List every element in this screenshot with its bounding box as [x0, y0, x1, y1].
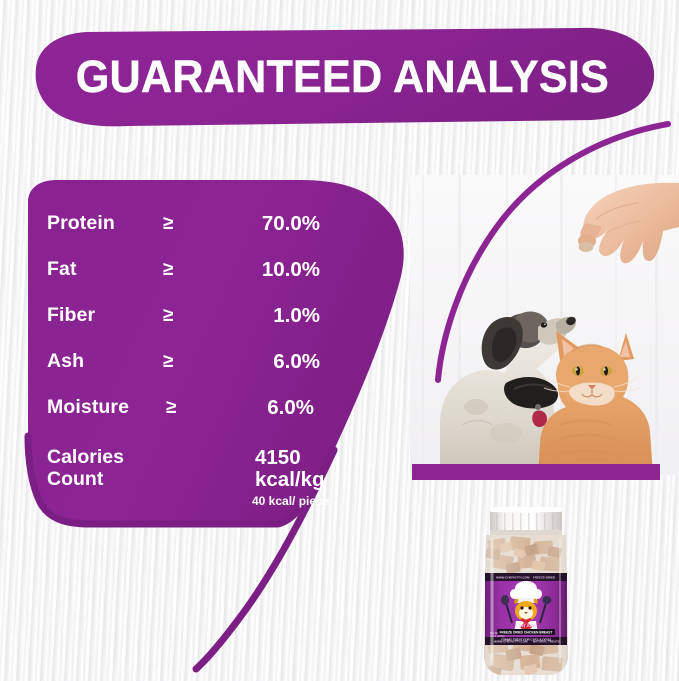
nutrient-value: 70.0%	[150, 212, 320, 236]
title-banner: GUARANTEED ANALYSIS	[0, 22, 679, 132]
calories-value-line2: kcal/kg	[255, 468, 325, 492]
table-row: Protein ≥ 70.0%	[0, 212, 330, 242]
jar-lid	[490, 507, 562, 535]
table-row: Fat ≥ 10.0%	[0, 258, 330, 288]
svg-text:FREEZE-DRIED: FREEZE-DRIED	[533, 576, 556, 580]
jar-product-text: FREEZE DRIED CHICKEN BREAST	[500, 630, 553, 634]
svg-text:WWW.CHEFKITTY.COM: WWW.CHEFKITTY.COM	[496, 576, 530, 580]
page-title: GUARANTEED ANALYSIS	[14, 22, 666, 132]
table-row: Ash ≥ 6.0%	[0, 350, 330, 380]
calories-label-line2: Count	[47, 468, 103, 491]
nutrient-value: 6.0%	[150, 396, 314, 420]
nutrient-value: 10.0%	[150, 258, 320, 282]
dog-tag	[532, 410, 547, 427]
table-row: Moisture ≥ 6.0%	[0, 396, 330, 426]
calories-value-line1: 4150	[255, 446, 301, 470]
calories-label-line1: Calories	[47, 446, 124, 469]
guaranteed-analysis-table: Protein ≥ 70.0% Fat ≥ 10.0% Fiber ≥ 1.0%…	[0, 150, 360, 550]
nutrient-value: 6.0%	[150, 350, 320, 374]
nutrient-label: Ash	[47, 350, 84, 373]
nutrient-label: Moisture	[47, 396, 129, 419]
infographic-root: WWW.CHEFKITTY.COM FREEZE-DRIED WWW.CHEFK…	[0, 0, 679, 681]
nutrient-label: Fiber	[47, 304, 95, 327]
nutrient-value: 1.0%	[150, 304, 320, 328]
jar-brand-text: Chef Kitty	[516, 624, 538, 629]
jar-tagline-text: YUMMY TREAT FOR CATS & DOGS	[501, 637, 551, 641]
table-row: Fiber ≥ 1.0%	[0, 304, 330, 334]
calories-subnote: 40 kcal/ piece	[252, 494, 329, 508]
nutrient-label: Protein	[47, 212, 115, 235]
nutrient-label: Fat	[47, 258, 77, 281]
